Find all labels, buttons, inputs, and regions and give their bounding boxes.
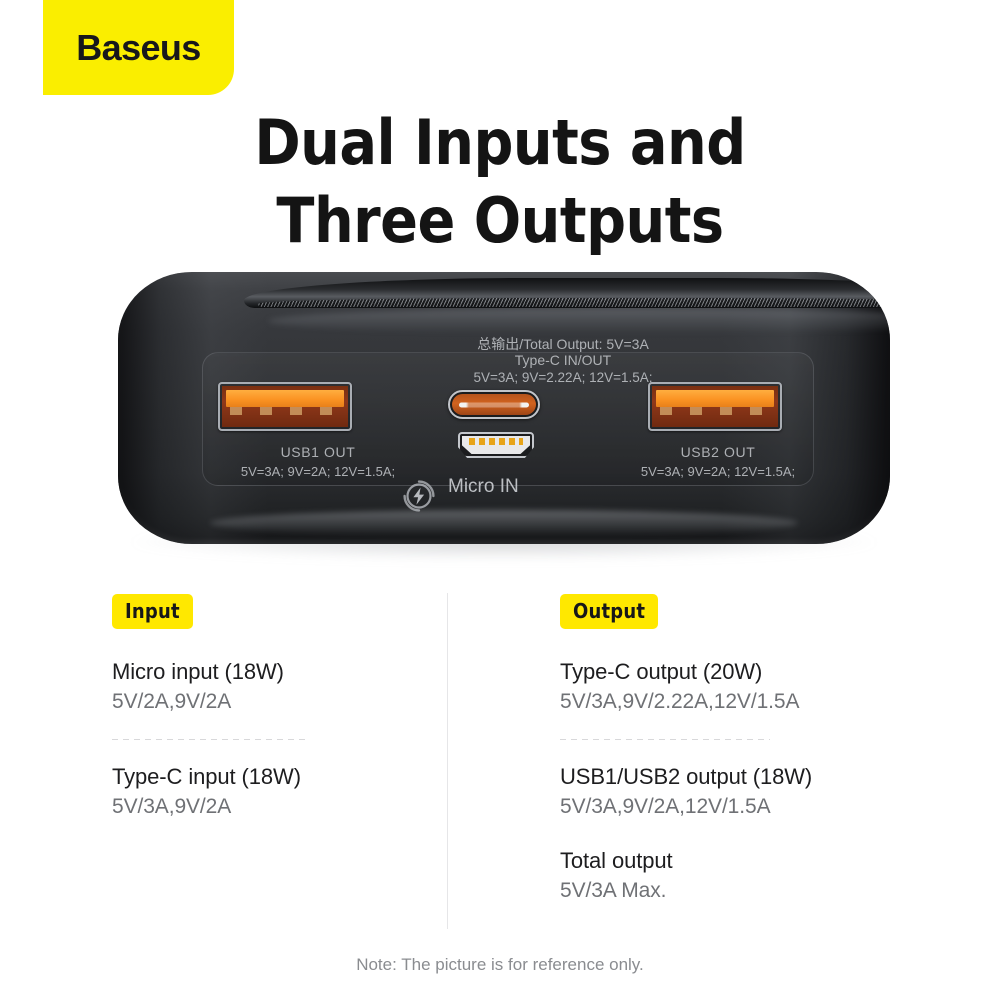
spec-value: 5V/3A,9V/2A (112, 792, 432, 822)
footnote: Note: The picture is for reference only. (0, 955, 1000, 975)
output-spec-column: Output Type-C output (20W) 5V/3A,9V/2.22… (560, 594, 960, 906)
product-image: 总输出/Total Output: 5V=3A Type-C IN/OUT 5V… (0, 258, 1000, 578)
spec-title: Micro input (18W) (112, 657, 432, 687)
usb2-port-pins (660, 407, 770, 415)
spec-title: Total output (560, 846, 960, 876)
silkscreen-micro-in-label: Micro IN (448, 476, 588, 498)
silkscreen-usb1-label: USB1 OUT (218, 444, 418, 460)
silkscreen-total-output: 总输出/Total Output: 5V=3A (398, 334, 728, 354)
input-section-badge: Input (112, 594, 193, 629)
spec-title: USB1/USB2 output (18W) (560, 762, 960, 792)
spec-title: Type-C output (20W) (560, 657, 960, 687)
type-c-port-blade (459, 402, 529, 407)
spec-dashed-divider (560, 739, 770, 740)
type-c-port-icon (448, 390, 540, 419)
spec-value: 5V/3A,9V/2A,12V/1.5A (560, 792, 960, 822)
spacer (112, 629, 432, 657)
micro-usb-port-icon (458, 432, 534, 458)
body-top-sheen (268, 308, 890, 334)
spacer (560, 822, 960, 846)
spec-title: Type-C input (18W) (112, 762, 432, 792)
usb1-port-icon (218, 382, 352, 431)
type-c-port-cavity (452, 394, 536, 415)
fast-charge-icon (400, 477, 438, 515)
spacer (560, 629, 960, 657)
usb1-port-cavity (222, 386, 348, 427)
spec-value: 5V/3A Max. (560, 876, 960, 906)
spec-value: 5V/3A,9V/2.22A,12V/1.5A (560, 687, 960, 717)
body-knurl-texture (258, 298, 890, 307)
page-title: Dual Inputs and Three Outputs (0, 104, 1000, 260)
spec-item-type-c-input: Type-C input (18W) 5V/3A,9V/2A (112, 762, 432, 822)
spec-value: 5V/2A,9V/2A (112, 687, 432, 717)
spec-column-divider (447, 593, 448, 929)
spec-item-micro-input: Micro input (18W) 5V/2A,9V/2A (112, 657, 432, 717)
usb1-port-pins (230, 407, 340, 415)
usb1-port-tongue (226, 390, 344, 407)
silkscreen-type-c-label: Type-C IN/OUT (398, 352, 728, 368)
output-section-badge: Output (560, 594, 658, 629)
brand-logo-block: Baseus (43, 0, 234, 95)
page-title-line-2: Three Outputs (0, 182, 1000, 260)
micro-usb-pins (469, 438, 523, 445)
power-bank-body: 总输出/Total Output: 5V=3A Type-C IN/OUT 5V… (118, 272, 890, 544)
spec-item-type-c-output: Type-C output (20W) 5V/3A,9V/2.22A,12V/1… (560, 657, 960, 717)
page-title-line-1: Dual Inputs and (0, 104, 1000, 182)
input-spec-column: Input Micro input (18W) 5V/2A,9V/2A Type… (112, 594, 432, 822)
brand-name: Baseus (76, 27, 200, 69)
usb2-port-icon (648, 382, 782, 431)
usb2-port-tongue (656, 390, 774, 407)
silkscreen-usb2-spec: 5V=3A; 9V=2A; 12V=1.5A; (598, 464, 838, 479)
spec-dashed-divider (112, 739, 307, 740)
spec-item-total-output: Total output 5V/3A Max. (560, 846, 960, 906)
body-bottom-rim (210, 510, 798, 536)
spec-item-usb-output: USB1/USB2 output (18W) 5V/3A,9V/2A,12V/1… (560, 762, 960, 822)
silkscreen-usb2-label: USB2 OUT (618, 444, 818, 460)
usb2-port-cavity (652, 386, 778, 427)
